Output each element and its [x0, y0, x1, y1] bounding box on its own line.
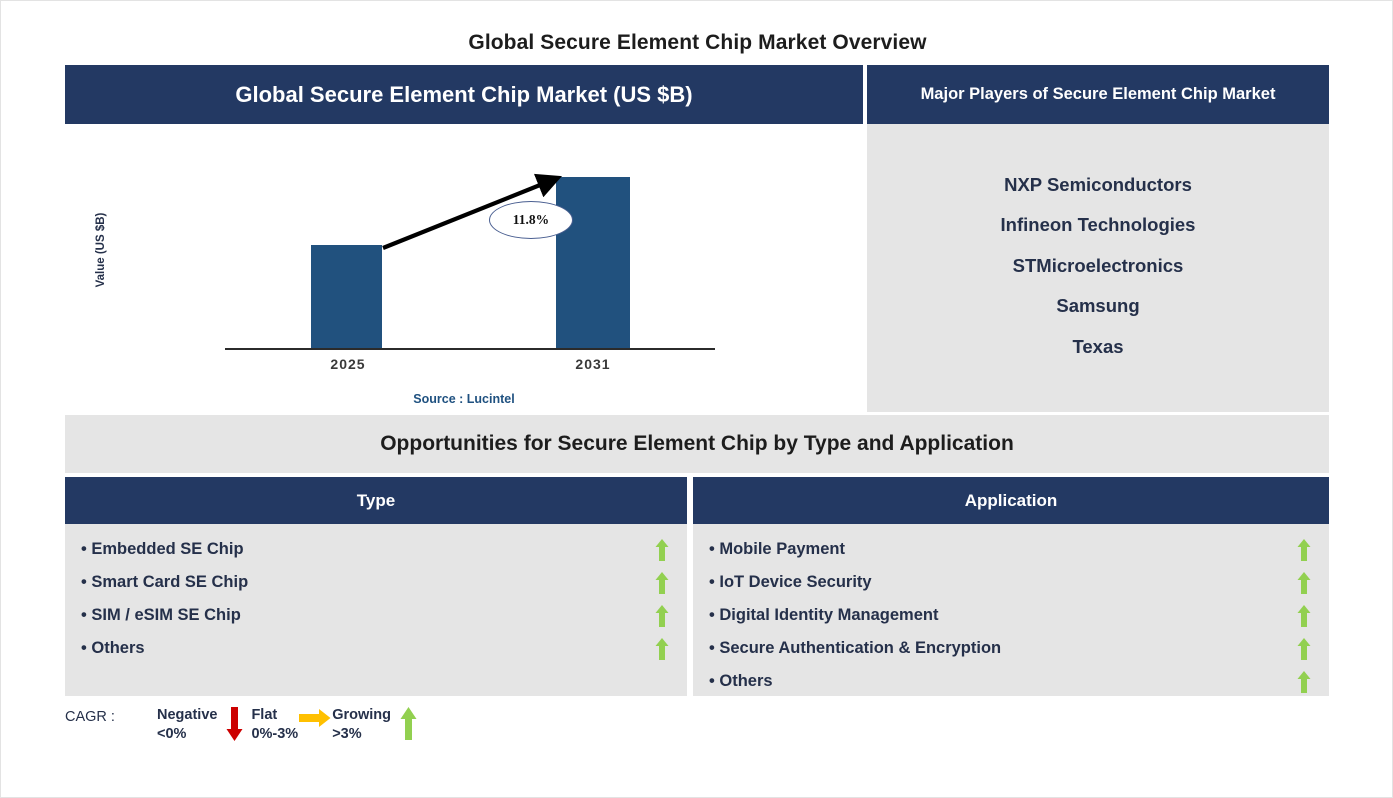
arrow-up-icon — [653, 539, 671, 561]
bar-2031 — [556, 177, 630, 348]
opp-label: • Others — [709, 672, 1295, 691]
list-item: • Others — [693, 665, 1329, 698]
arrow-up-icon — [1295, 671, 1313, 693]
arrow-up-icon — [1295, 572, 1313, 594]
arrow-up-icon — [1295, 539, 1313, 561]
cagr-legend: CAGR : Negative <0% Flat 0%-3% Growing >… — [65, 706, 425, 752]
opp-label: • Smart Card SE Chip — [81, 573, 653, 592]
players-panel-header: Major Players of Secure Element Chip Mar… — [867, 65, 1329, 124]
cagr-growth-arrow — [65, 124, 863, 412]
bar-2025 — [311, 245, 382, 348]
arrow-up-icon — [653, 638, 671, 660]
list-item: • Mobile Payment — [693, 533, 1329, 566]
opp-label: • SIM / eSIM SE Chip — [81, 606, 653, 625]
arrow-up-icon — [653, 605, 671, 627]
list-item: • Secure Authentication & Encryption — [693, 632, 1329, 665]
x-axis-line — [225, 348, 715, 350]
opp-label: • Digital Identity Management — [709, 606, 1295, 625]
chart-source-label: Source : Lucintel — [65, 392, 863, 406]
x-tick-2031: 2031 — [548, 356, 638, 372]
arrow-up-icon — [1295, 638, 1313, 660]
legend-flat-text: Flat 0%-3% — [251, 706, 298, 744]
opportunities-band-title: Opportunities for Secure Element Chip by… — [65, 415, 1329, 473]
arrow-up-icon — [1295, 605, 1313, 627]
opp-label: • Secure Authentication & Encryption — [709, 639, 1295, 658]
opp-label: • Others — [81, 639, 653, 658]
cagr-value-callout: 11.8% — [489, 201, 573, 239]
opp-label: • Mobile Payment — [709, 540, 1295, 559]
list-item: STMicroelectronics — [867, 246, 1329, 287]
chart-panel-body: Value (US $B) 2025 2031 11.8% Source : L… — [65, 124, 863, 412]
infographic-page: Global Secure Element Chip Market Overvi… — [0, 0, 1393, 798]
list-item: Texas — [867, 327, 1329, 368]
arrow-right-icon — [298, 706, 332, 728]
cagr-legend-title: CAGR : — [65, 706, 157, 725]
arrow-up-icon — [653, 572, 671, 594]
major-players-list: NXP Semiconductors Infineon Technologies… — [867, 124, 1329, 412]
application-column-header: Application — [693, 477, 1329, 524]
arrow-up-icon — [391, 706, 425, 740]
page-title: Global Secure Element Chip Market Overvi… — [65, 31, 1330, 55]
opp-label: • IoT Device Security — [709, 573, 1295, 592]
list-item: Infineon Technologies — [867, 205, 1329, 246]
list-item: • SIM / eSIM SE Chip — [65, 599, 687, 632]
market-bar-chart: Value (US $B) 2025 2031 11.8% Source : L… — [65, 124, 863, 412]
legend-entry-negative: Negative <0% — [157, 706, 251, 744]
arrow-down-icon — [217, 706, 251, 741]
list-item: • Embedded SE Chip — [65, 533, 687, 566]
list-item: Samsung — [867, 286, 1329, 327]
legend-negative-text: Negative <0% — [157, 706, 217, 744]
application-column-body: • Mobile Payment • IoT Device Security •… — [693, 524, 1329, 696]
list-item: • Others — [65, 632, 687, 665]
list-item: • Smart Card SE Chip — [65, 566, 687, 599]
list-item: • IoT Device Security — [693, 566, 1329, 599]
list-item: • Digital Identity Management — [693, 599, 1329, 632]
legend-entry-flat: Flat 0%-3% — [251, 706, 332, 744]
y-axis-label: Value (US $B) — [95, 190, 107, 310]
legend-growing-text: Growing >3% — [332, 706, 391, 744]
chart-panel-header: Global Secure Element Chip Market (US $B… — [65, 65, 863, 124]
opp-label: • Embedded SE Chip — [81, 540, 653, 559]
type-column-body: • Embedded SE Chip • Smart Card SE Chip … — [65, 524, 687, 696]
list-item: NXP Semiconductors — [867, 165, 1329, 206]
type-column-header: Type — [65, 477, 687, 524]
legend-entry-growing: Growing >3% — [332, 706, 425, 744]
x-tick-2025: 2025 — [303, 356, 393, 372]
